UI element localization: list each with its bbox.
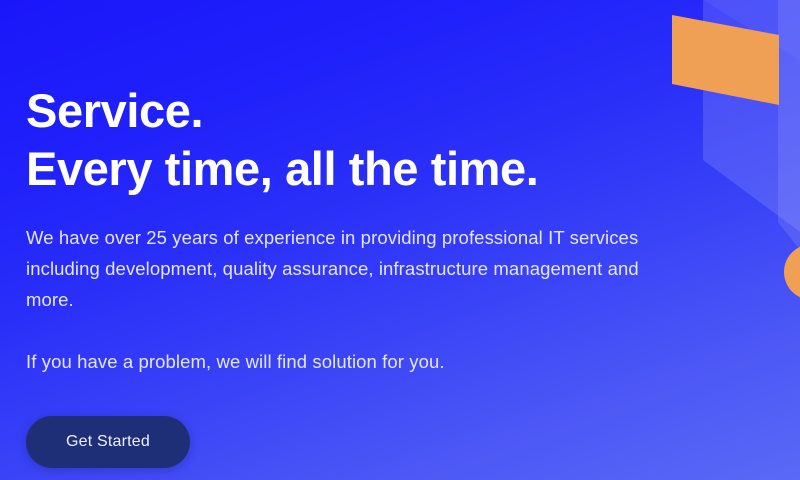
orange-circle-shape: [784, 244, 800, 300]
light-band-sliver-shape: [778, 0, 800, 250]
page-title: Service. Every time, all the time.: [26, 82, 538, 198]
orange-parallelogram-shape: [672, 15, 779, 105]
hero-banner: Service. Every time, all the time. We ha…: [0, 0, 800, 480]
get-started-button[interactable]: Get Started: [26, 416, 190, 468]
light-diagonal-band-edge-shape: [703, 0, 800, 60]
hero-content: Service. Every time, all the time. We ha…: [26, 0, 686, 480]
light-diagonal-band-shape: [703, 0, 800, 232]
description-paragraph-1: We have over 25 years of experience in p…: [26, 227, 639, 310]
hero-description: We have over 25 years of experience in p…: [26, 222, 646, 377]
description-paragraph-2: If you have a problem, we will find solu…: [26, 346, 646, 377]
headline-line-2: Every time, all the time.: [26, 140, 538, 198]
headline-line-1: Service.: [26, 82, 538, 140]
